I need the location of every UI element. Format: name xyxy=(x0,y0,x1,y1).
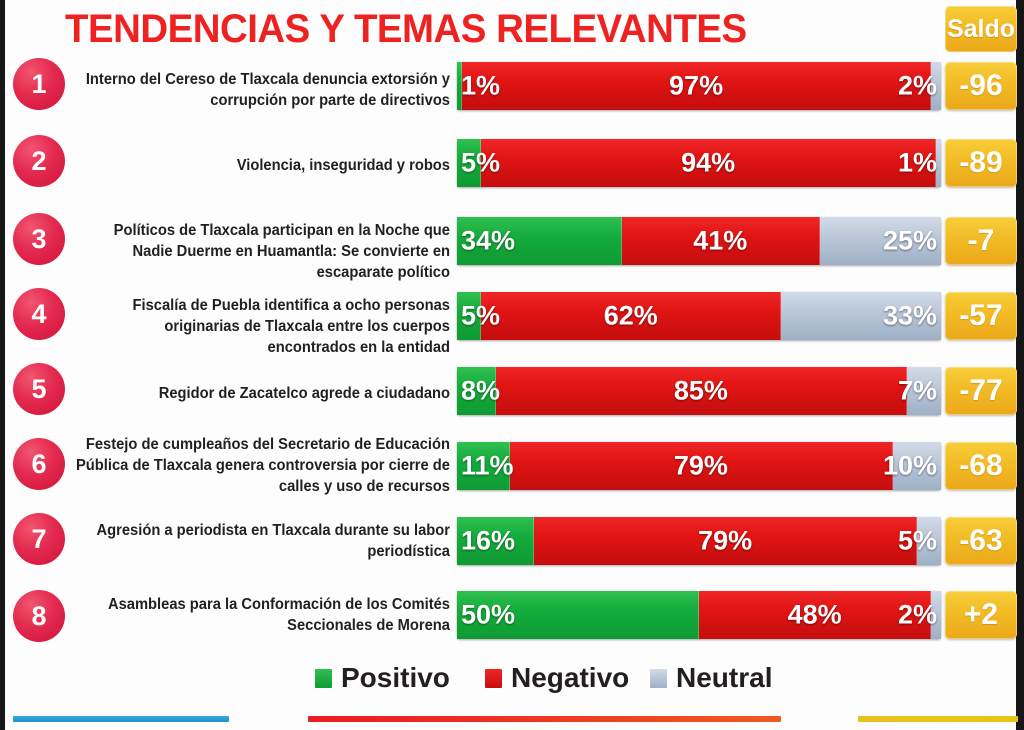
row-topic-label: Interno del Cereso de Tlaxcala denuncia … xyxy=(75,69,450,111)
stacked-bar: 5%62%33% xyxy=(457,292,941,340)
stacked-bar: 16%79%5% xyxy=(457,517,941,565)
bar-segment-value: 16% xyxy=(461,528,515,555)
row-number-badge: 4 xyxy=(13,288,65,340)
row-number-badge: 8 xyxy=(13,590,65,642)
row-topic-label: Festejo de cumpleaños del Secretario de … xyxy=(75,434,450,497)
stacked-bar: 11%79%10% xyxy=(457,442,941,490)
bar-segment-neutral: 1% xyxy=(936,139,941,187)
legend-label: Positivo xyxy=(341,664,450,692)
bar-segment-value: 5% xyxy=(898,528,937,555)
bar-segment-neutral: 7% xyxy=(907,367,941,415)
bar-segment-positivo: 5% xyxy=(457,292,481,340)
footer-strip-yellow xyxy=(858,716,1018,722)
row-number-badge: 6 xyxy=(13,438,65,490)
legend-item-positivo: Positivo xyxy=(315,658,450,698)
saldo-value: -7 xyxy=(945,217,1017,265)
bar-segment-value: 41% xyxy=(693,228,747,255)
bar-segment-value: 50% xyxy=(461,602,515,629)
row-number-badge: 3 xyxy=(13,213,65,265)
row-topic-label: Agresión a periodista en Tlaxcala durant… xyxy=(75,520,450,562)
bar-segment-value: 33% xyxy=(883,303,937,330)
bar-segment-negativo: 48% xyxy=(699,591,931,639)
legend-swatch-negativo-icon xyxy=(485,669,502,688)
bar-segment-value: 94% xyxy=(681,150,735,177)
row-topic-label: Políticos de Tlaxcala participan en la N… xyxy=(75,220,450,283)
bar-segment-value: 25% xyxy=(883,228,937,255)
bar-segment-neutral: 10% xyxy=(893,442,941,490)
bar-segment-neutral: 2% xyxy=(931,591,941,639)
bar-segment-negativo: 41% xyxy=(622,217,820,265)
bar-segment-neutral: 2% xyxy=(931,62,941,110)
bar-segment-value: 2% xyxy=(898,73,937,100)
row-number-badge: 7 xyxy=(13,513,65,565)
row-number-badge: 5 xyxy=(13,363,65,415)
row-topic-label: Regidor de Zacatelco agrede a ciudadano xyxy=(75,383,450,404)
saldo-value: -68 xyxy=(945,442,1017,490)
bar-segment-positivo: 8% xyxy=(457,367,496,415)
row-topic-label: Fiscalía de Puebla identifica a ocho per… xyxy=(75,295,450,358)
saldo-value: -77 xyxy=(945,367,1017,415)
bar-segment-negativo: 97% xyxy=(462,62,931,110)
legend-swatch-neutral-icon xyxy=(650,669,667,688)
row-topic-label: Violencia, inseguridad y robos xyxy=(75,155,450,176)
stacked-bar: 5%94%1% xyxy=(457,139,941,187)
bar-segment-positivo: 11% xyxy=(457,442,510,490)
saldo-column-header: Saldo xyxy=(945,6,1017,52)
bar-segment-value: 34% xyxy=(461,228,515,255)
saldo-value: -57 xyxy=(945,292,1017,340)
bar-segment-value: 7% xyxy=(898,378,937,405)
footer-strip-blue xyxy=(13,716,229,722)
chart-legend: PositivoNegativoNeutral xyxy=(305,658,825,698)
saldo-value: -63 xyxy=(945,517,1017,565)
saldo-value: -89 xyxy=(945,139,1017,187)
chart-canvas: TENDENCIAS Y TEMAS RELEVANTES Saldo 1Int… xyxy=(5,0,1016,730)
bar-segment-negativo: 85% xyxy=(496,367,907,415)
bar-segment-value: 85% xyxy=(674,378,728,405)
stacked-bar: 1%97%2% xyxy=(457,62,941,110)
bar-segment-value: 5% xyxy=(461,150,500,177)
page-title: TENDENCIAS Y TEMAS RELEVANTES xyxy=(65,6,699,52)
bar-segment-positivo: 34% xyxy=(457,217,622,265)
bar-segment-value: 5% xyxy=(461,303,500,330)
bar-segment-value: 79% xyxy=(698,528,752,555)
bar-segment-value: 2% xyxy=(898,602,937,629)
row-number-badge: 1 xyxy=(13,58,65,110)
bar-segment-value: 1% xyxy=(898,150,937,177)
bar-segment-value: 79% xyxy=(674,453,728,480)
infographic-screen: TENDENCIAS Y TEMAS RELEVANTES Saldo 1Int… xyxy=(0,0,1024,730)
bar-segment-value: 62% xyxy=(604,303,658,330)
bar-segment-positivo: 5% xyxy=(457,139,481,187)
bar-segment-value: 48% xyxy=(788,602,842,629)
bar-segment-value: 97% xyxy=(669,73,723,100)
bar-segment-neutral: 25% xyxy=(820,217,941,265)
right-border xyxy=(1016,0,1024,730)
bar-segment-value: 10% xyxy=(883,453,937,480)
legend-item-neutral: Neutral xyxy=(650,658,772,698)
bar-segment-negativo: 62% xyxy=(481,292,781,340)
bar-segment-value: 8% xyxy=(461,378,500,405)
row-topic-label: Asambleas para la Conformación de los Co… xyxy=(75,594,450,636)
legend-label: Neutral xyxy=(676,664,772,692)
stacked-bar: 8%85%7% xyxy=(457,367,941,415)
bar-segment-negativo: 94% xyxy=(481,139,936,187)
bar-segment-negativo: 79% xyxy=(534,517,916,565)
bar-segment-neutral: 5% xyxy=(917,517,941,565)
legend-item-negativo: Negativo xyxy=(485,658,629,698)
bar-segment-value: 11% xyxy=(461,453,514,480)
row-number-badge: 2 xyxy=(13,135,65,187)
legend-swatch-positivo-icon xyxy=(315,669,332,688)
saldo-value: +2 xyxy=(945,591,1017,639)
bar-segment-neutral: 33% xyxy=(781,292,941,340)
legend-label: Negativo xyxy=(511,664,629,692)
bar-segment-value: 1% xyxy=(461,73,500,100)
stacked-bar: 34%41%25% xyxy=(457,217,941,265)
saldo-value: -96 xyxy=(945,62,1017,110)
footer-strip-red xyxy=(308,716,781,722)
bar-segment-negativo: 79% xyxy=(510,442,892,490)
bar-segment-positivo: 50% xyxy=(457,591,699,639)
bar-segment-positivo: 16% xyxy=(457,517,534,565)
stacked-bar: 50%48%2% xyxy=(457,591,941,639)
